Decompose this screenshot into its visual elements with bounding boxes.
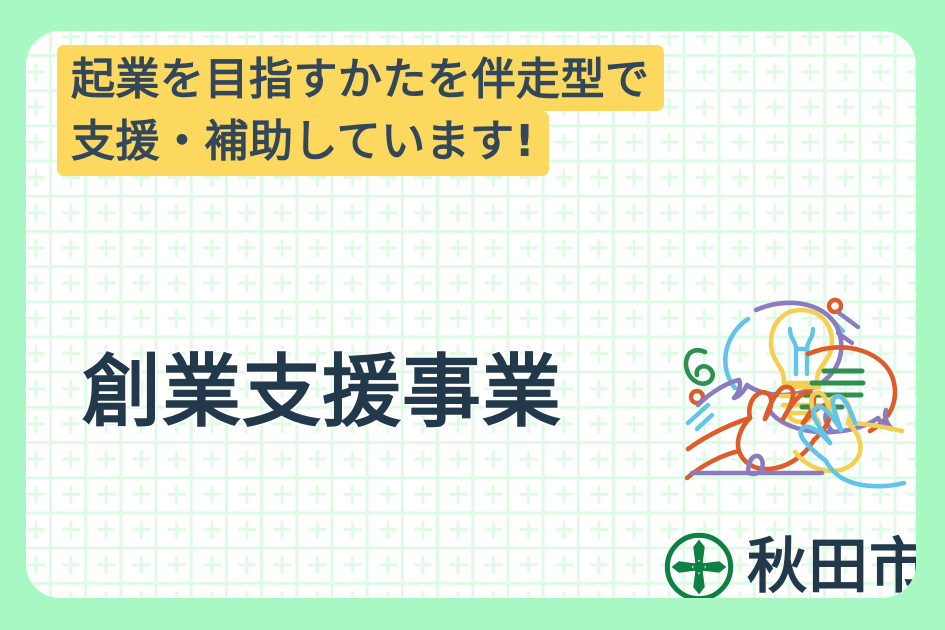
collaboration-idea-illustration [662, 271, 916, 501]
akita-city-logo-lockup: 秋田市 [663, 531, 916, 598]
white-content-card: 起業を目指すかたを伴走型で 支援・補助しています! 創業支援事業 [26, 31, 916, 598]
headline-line-1: 起業を目指すかたを伴走型で [57, 45, 664, 111]
poster-root: 起業を目指すかたを伴走型で 支援・補助しています! 創業支援事業 [0, 0, 945, 630]
akita-city-emblem-icon [663, 531, 735, 598]
page-title: 創業支援事業 [82, 353, 562, 432]
headline-block: 起業を目指すかたを伴走型で 支援・補助しています! [57, 45, 664, 176]
headline-line-2: 支援・補助しています! [57, 111, 549, 176]
akita-city-label: 秋田市 [747, 537, 916, 597]
